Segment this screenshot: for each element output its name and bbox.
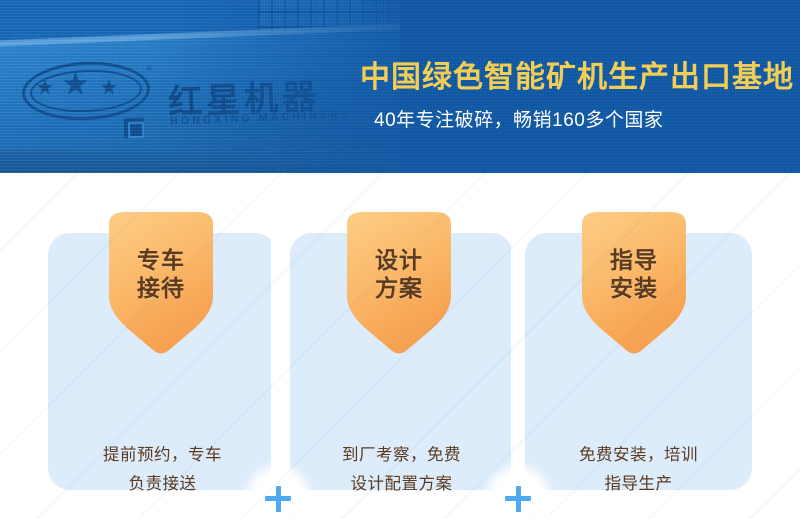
card-2-description: 到厂考察，免费 设计配置方案 (290, 441, 513, 499)
badge-3-line1: 指导 (568, 246, 700, 274)
badge-2-line2: 方案 (333, 274, 465, 302)
card-3-desc-line2: 指导生产 (525, 470, 752, 499)
header-banner: ★ ★ ★ ® 红星机器 HONGXING MACHINERY 中国绿色智能矿机… (0, 0, 800, 173)
badge-3-line2: 安装 (568, 274, 700, 302)
badge-2-line1: 设计 (333, 246, 465, 274)
badge-1-label: 专车 接待 (95, 246, 227, 302)
badge-1-line1: 专车 (95, 246, 227, 274)
banner-subline: 40年专注破碎，畅销160多个国家 (374, 105, 663, 132)
card-3-desc-line1: 免费安装，培训 (525, 441, 752, 470)
card-separator-2 (511, 173, 525, 519)
card-1-desc-line2: 负责接送 (48, 470, 277, 499)
service-cards: 提前预约，专车 负责接送 到厂考察，免费 设计配置方案 免费安装，培训 指导生产 (0, 173, 800, 519)
plus-connector-1-icon (252, 472, 304, 519)
plus-connector-2-icon (492, 472, 544, 519)
card-separator-1 (271, 173, 285, 519)
card-1-desc-line1: 提前预约，专车 (48, 441, 277, 470)
badge-2-label: 设计 方案 (333, 246, 465, 302)
card-2-desc-line1: 到厂考察，免费 (290, 441, 513, 470)
badge-1-line2: 接待 (95, 274, 227, 302)
promo-page: ★ ★ ★ ® 红星机器 HONGXING MACHINERY 中国绿色智能矿机… (0, 0, 800, 519)
badge-3-label: 指导 安装 (568, 246, 700, 302)
card-3-description: 免费安装，培训 指导生产 (525, 441, 752, 499)
card-1-description: 提前预约，专车 负责接送 (48, 441, 277, 499)
banner-headline: 中国绿色智能矿机生产出口基地 (360, 52, 794, 96)
card-2-desc-line2: 设计配置方案 (290, 470, 513, 499)
